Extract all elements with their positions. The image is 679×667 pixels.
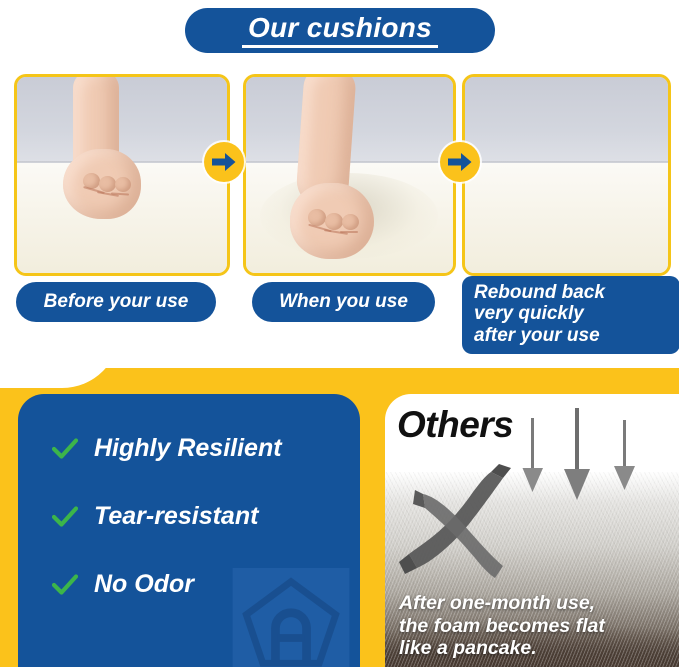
caption-before-label: Before your use xyxy=(44,291,189,313)
feature-label: No Odor xyxy=(94,570,194,599)
arrow-right-badge-2 xyxy=(440,142,480,182)
infographic-root: Our cushions xyxy=(0,0,679,667)
knuckle-shape xyxy=(342,214,359,230)
x-brush-mark-icon xyxy=(395,462,545,582)
caption-after-line-1: Rebound back xyxy=(474,282,670,303)
knuckle-shape xyxy=(115,177,131,192)
page-title-banner: Our cushions xyxy=(185,8,495,53)
step-photo-during xyxy=(243,74,456,276)
others-caption-line-2: the foam becomes flat xyxy=(399,615,605,637)
knuckle-shape xyxy=(325,213,343,230)
feature-item: No Odor xyxy=(52,570,194,599)
features-panel: Highly Resilient Tear-resistant No Odor xyxy=(18,394,360,667)
others-caption-line-3: like a pancake. xyxy=(399,637,605,659)
feature-label: Tear-resistant xyxy=(94,502,258,531)
arrow-down-icon xyxy=(564,408,590,500)
foam-surface xyxy=(465,163,668,273)
arrow-down-icon xyxy=(614,420,635,490)
caption-during: When you use xyxy=(252,282,435,322)
others-title: Others xyxy=(397,404,513,446)
caption-after-line-3: after your use xyxy=(474,325,670,346)
arrow-right-icon xyxy=(448,152,472,172)
others-caption: After one-month use, the foam becomes fl… xyxy=(399,592,605,659)
step-photo-before xyxy=(14,74,230,276)
arrow-right-icon xyxy=(212,152,236,172)
arrow-right-badge-1 xyxy=(204,142,244,182)
caption-before: Before your use xyxy=(16,282,216,322)
feature-item: Tear-resistant xyxy=(52,502,258,531)
check-icon xyxy=(52,574,78,596)
caption-after-line-2: very quickly xyxy=(474,303,670,324)
pentagon-house-logo-icon xyxy=(232,568,350,667)
page-title: Our cushions xyxy=(242,14,438,48)
caption-after: Rebound back very quickly after your use xyxy=(462,276,679,354)
finger-crease xyxy=(340,231,358,233)
others-panel: Others xyxy=(385,394,679,667)
photo-background xyxy=(465,77,668,167)
others-caption-line-1: After one-month use, xyxy=(399,592,605,614)
check-icon xyxy=(52,506,78,528)
feature-item: Highly Resilient xyxy=(52,434,282,463)
knuckle-shape xyxy=(99,176,116,192)
step-photo-after xyxy=(462,74,671,276)
feature-label: Highly Resilient xyxy=(94,434,282,463)
caption-during-label: When you use xyxy=(279,291,408,313)
check-icon xyxy=(52,438,78,460)
